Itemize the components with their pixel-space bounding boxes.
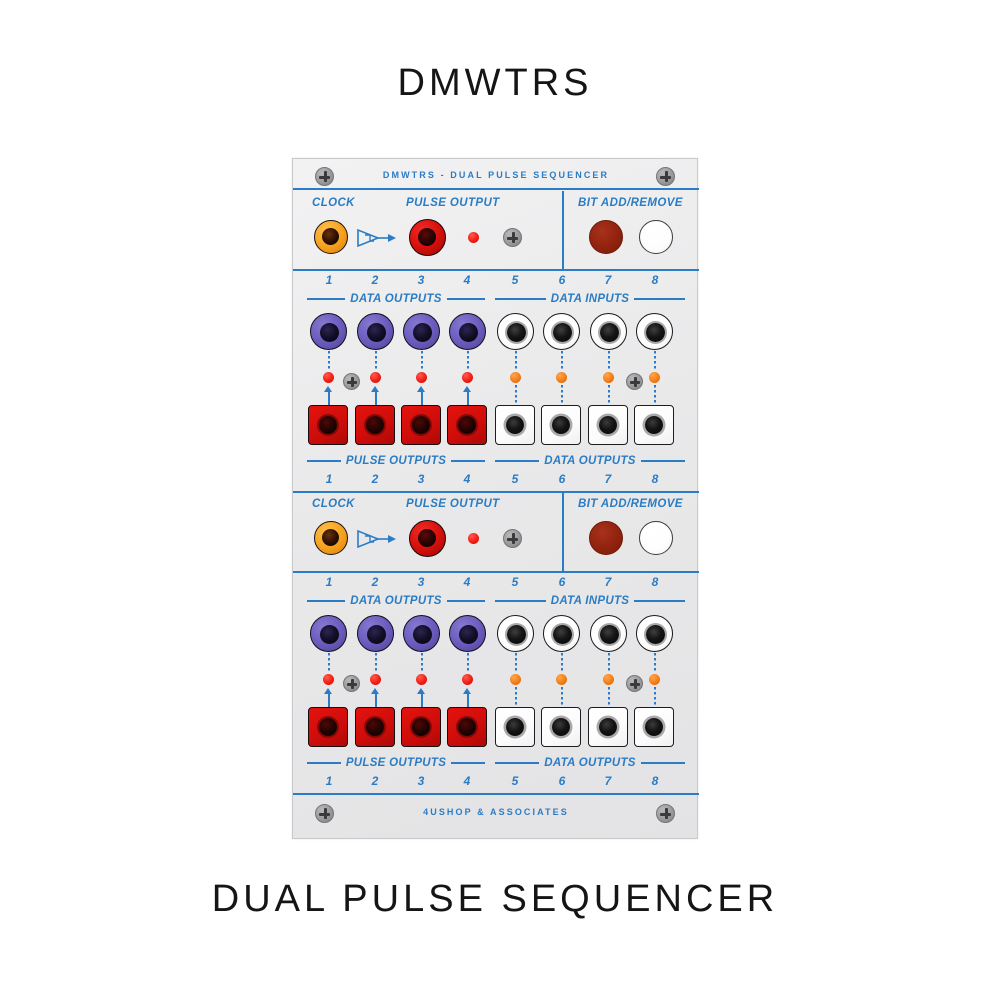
section-a-data-output-jack-2[interactable] [357, 313, 394, 350]
section-a-screw-right [626, 373, 643, 390]
section-a-bottom-number-1: 1 [319, 472, 339, 486]
section-a-led-8 [649, 372, 660, 383]
divider-b-control [293, 571, 699, 573]
rule-right [634, 600, 685, 602]
section-a-top-number-7: 7 [598, 273, 618, 287]
rule-right [447, 298, 485, 300]
section-b-top-number-7: 7 [598, 575, 618, 589]
section-a-data-output-square-8[interactable] [634, 405, 674, 445]
rule-right [641, 762, 685, 764]
section-b-bit-add-remove-label: BIT ADD/REMOVE [578, 498, 683, 510]
screw-bottom-right [656, 804, 675, 823]
section-b-data-input-jack-7[interactable] [590, 615, 627, 652]
arrowline-b-1 [328, 693, 330, 707]
section-b-top-number-6: 6 [552, 575, 572, 589]
rule-left [307, 762, 341, 764]
section-a-led-4 [462, 372, 473, 383]
section-a-screw-left [343, 373, 360, 390]
rule-left [495, 460, 539, 462]
section-a-data-output-jack-4[interactable] [449, 313, 486, 350]
section-b-bottom-number-3: 3 [411, 774, 431, 788]
section-a-data-input-jack-7[interactable] [590, 313, 627, 350]
dotline-b-2 [375, 653, 377, 673]
section-a-bit-add-button[interactable] [589, 220, 623, 254]
section-b-bottom-number-4: 4 [457, 774, 477, 788]
arrowline-a-2 [375, 391, 377, 405]
section-a-top-number-1: 1 [319, 273, 339, 287]
divider-footer [293, 793, 699, 795]
section-b-buffer-amp-icon [356, 528, 396, 550]
section-a-buffer-amp-icon [356, 227, 396, 249]
rule-right [447, 600, 485, 602]
section-a-bottom-number-3: 3 [411, 472, 431, 486]
section-b-data-output-square-7[interactable] [588, 707, 628, 747]
section-a-led-7 [603, 372, 614, 383]
section-b-data-input-jack-6[interactable] [543, 615, 580, 652]
section-a-pulse-output-square-2[interactable] [355, 405, 395, 445]
section-b-top-number-4: 4 [457, 575, 477, 589]
section-b-pulse-outputs-group: PULSE OUTPUTS [307, 756, 485, 770]
section-a-led-3 [416, 372, 427, 383]
dotline-b-lower-7 [608, 687, 610, 707]
section-a-screw-middle [503, 228, 522, 247]
arrowhead-a-4 [463, 386, 471, 392]
section-b-pulse-output-square-1[interactable] [308, 707, 348, 747]
screw-bottom-left [315, 804, 334, 823]
section-b-screw-right [626, 675, 643, 692]
section-b-bottom-number-1: 1 [319, 774, 339, 788]
section-a-pulse-output-square-4[interactable] [447, 405, 487, 445]
section-a-bit-add-remove-label: BIT ADD/REMOVE [578, 197, 683, 209]
section-b-top-number-5: 5 [505, 575, 525, 589]
section-a-bottom-number-4: 4 [457, 472, 477, 486]
section-b-pulse-output-jack[interactable] [409, 520, 446, 557]
dotline-b-1 [328, 653, 330, 673]
section-b-bottom-number-7: 7 [598, 774, 618, 788]
section-b-bottom-number-8: 8 [645, 774, 665, 788]
section-b-top-number-2: 2 [365, 575, 385, 589]
label-text: DATA OUTPUTS [544, 455, 636, 467]
section-a-top-number-5: 5 [505, 273, 525, 287]
section-a-clock-jack[interactable] [314, 220, 348, 254]
section-b-led-2 [370, 674, 381, 685]
arrowhead-b-2 [371, 688, 379, 694]
dotline-a-lower-8 [654, 385, 656, 405]
section-b-top-number-3: 3 [411, 575, 431, 589]
dotline-a-1 [328, 351, 330, 371]
section-a-bottom-number-6: 6 [552, 472, 572, 486]
screw-top-right [656, 167, 675, 186]
divider-a-control [293, 269, 699, 271]
section-a-clock-label: CLOCK [312, 197, 355, 209]
label-text: DATA INPUTS [551, 595, 629, 607]
section-b-pulse-output-label: PULSE OUTPUT [406, 498, 500, 510]
dotline-a-lower-7 [608, 385, 610, 405]
section-b-data-output-square-5[interactable] [495, 707, 535, 747]
label-text: DATA OUTPUTS [350, 293, 442, 305]
section-b-clock-label: CLOCK [312, 498, 355, 510]
dotline-a-5 [515, 351, 517, 371]
section-a-data-input-jack-5[interactable] [497, 313, 534, 350]
section-b-data-output-jack-4[interactable] [449, 615, 486, 652]
section-b-data-input-jack-5[interactable] [497, 615, 534, 652]
dotline-b-4 [467, 653, 469, 673]
section-b-data-outputs-bottom-group: DATA OUTPUTS [495, 756, 685, 770]
dotline-a-3 [421, 351, 423, 371]
section-a-led-2 [370, 372, 381, 383]
dotline-b-5 [515, 653, 517, 673]
rule-left [495, 762, 539, 764]
label-text: PULSE OUTPUTS [346, 455, 446, 467]
arrowline-b-4 [467, 693, 469, 707]
section-b-bottom-number-5: 5 [505, 774, 525, 788]
arrowhead-a-2 [371, 386, 379, 392]
section-a-bottom-number-2: 2 [365, 472, 385, 486]
panel-header-title: DMWTRS - DUAL PULSE SEQUENCER [293, 170, 699, 180]
dotline-b-lower-6 [561, 687, 563, 707]
eurorack-module-panel: DMWTRS - DUAL PULSE SEQUENCER CLOCK PULS… [292, 158, 698, 839]
dotline-a-lower-5 [515, 385, 517, 405]
divider-header [293, 188, 699, 190]
section-b-led-6 [556, 674, 567, 685]
rule-left [495, 298, 546, 300]
rule-left [307, 600, 345, 602]
brand-caption: DMWTRS [0, 62, 990, 105]
section-b-bit-add-button[interactable] [589, 521, 623, 555]
section-a-data-output-square-5[interactable] [495, 405, 535, 445]
rule-right [634, 298, 685, 300]
dotline-a-8 [654, 351, 656, 371]
section-a-bit-remove-button[interactable] [639, 220, 673, 254]
dotline-b-lower-5 [515, 687, 517, 707]
section-a-data-output-jack-3[interactable] [403, 313, 440, 350]
dotline-b-6 [561, 653, 563, 673]
section-a-top-number-3: 3 [411, 273, 431, 287]
product-caption: DUAL PULSE SEQUENCER [0, 878, 990, 921]
label-text: DATA OUTPUTS [544, 757, 636, 769]
section-a-top-number-8: 8 [645, 273, 665, 287]
section-b-clock-jack[interactable] [314, 521, 348, 555]
arrowhead-b-1 [324, 688, 332, 694]
dotline-b-3 [421, 653, 423, 673]
label-text: DATA OUTPUTS [350, 595, 442, 607]
section-a-led-6 [556, 372, 567, 383]
section-a-bottom-number-7: 7 [598, 472, 618, 486]
dotline-a-4 [467, 351, 469, 371]
arrowhead-a-3 [417, 386, 425, 392]
section-b-led-8 [649, 674, 660, 685]
dotline-b-8 [654, 653, 656, 673]
label-text: DATA INPUTS [551, 293, 629, 305]
section-b-data-inputs-group: DATA INPUTS [495, 594, 685, 608]
arrowline-a-3 [421, 391, 423, 405]
rule-left [307, 460, 341, 462]
section-a-top-number-4: 4 [457, 273, 477, 287]
section-b-top-number-8: 8 [645, 575, 665, 589]
section-b-bottom-number-6: 6 [552, 774, 572, 788]
section-a-data-input-jack-8[interactable] [636, 313, 673, 350]
section-b-data-output-jack-2[interactable] [357, 615, 394, 652]
section-b-bit-remove-button[interactable] [639, 521, 673, 555]
section-a-vertical-divider [562, 191, 564, 269]
section-a-bottom-number-8: 8 [645, 472, 665, 486]
section-a-data-inputs-group: DATA INPUTS [495, 292, 685, 306]
section-b-pulse-output-square-4[interactable] [447, 707, 487, 747]
arrowhead-a-1 [324, 386, 332, 392]
section-a-top-number-6: 6 [552, 273, 572, 287]
divider-sections [293, 491, 699, 493]
dotline-b-7 [608, 653, 610, 673]
section-b-data-outputs-group: DATA OUTPUTS [307, 594, 485, 608]
section-a-data-output-jack-1[interactable] [310, 313, 347, 350]
rule-right [451, 762, 485, 764]
arrowhead-b-4 [463, 688, 471, 694]
section-a-pulse-output-jack[interactable] [409, 219, 446, 256]
section-b-data-input-jack-8[interactable] [636, 615, 673, 652]
section-a-pulse-output-square-1[interactable] [308, 405, 348, 445]
section-b-pulse-output-square-3[interactable] [401, 707, 441, 747]
section-b-data-output-square-8[interactable] [634, 707, 674, 747]
dotline-b-lower-8 [654, 687, 656, 707]
rule-left [307, 298, 345, 300]
section-b-data-output-jack-3[interactable] [403, 615, 440, 652]
section-b-vertical-divider [562, 493, 564, 571]
section-a-data-outputs-bottom-group: DATA OUTPUTS [495, 454, 685, 468]
section-a-bottom-number-5: 5 [505, 472, 525, 486]
section-a-pulse-output-square-3[interactable] [401, 405, 441, 445]
dotline-a-2 [375, 351, 377, 371]
section-a-data-input-jack-6[interactable] [543, 313, 580, 350]
section-b-led-5 [510, 674, 521, 685]
section-a-pulse-led [468, 232, 479, 243]
rule-right [451, 460, 485, 462]
dotline-a-6 [561, 351, 563, 371]
rule-left [495, 600, 546, 602]
section-a-led-5 [510, 372, 521, 383]
section-b-pulse-led [468, 533, 479, 544]
dotline-a-lower-6 [561, 385, 563, 405]
section-b-led-7 [603, 674, 614, 685]
section-a-top-number-2: 2 [365, 273, 385, 287]
section-a-pulse-output-label: PULSE OUTPUT [406, 197, 500, 209]
arrowline-b-2 [375, 693, 377, 707]
dotline-a-7 [608, 351, 610, 371]
panel-footer-text: 4USHOP & ASSOCIATES [293, 807, 699, 817]
section-a-data-outputs-group: DATA OUTPUTS [307, 292, 485, 306]
arrowhead-b-3 [417, 688, 425, 694]
section-b-led-1 [323, 674, 334, 685]
arrowline-a-4 [467, 391, 469, 405]
section-a-pulse-outputs-group: PULSE OUTPUTS [307, 454, 485, 468]
rule-right [641, 460, 685, 462]
screw-top-left [315, 167, 334, 186]
section-a-led-1 [323, 372, 334, 383]
arrowline-b-3 [421, 693, 423, 707]
section-b-screw-left [343, 675, 360, 692]
section-a-data-output-square-7[interactable] [588, 405, 628, 445]
section-b-led-3 [416, 674, 427, 685]
arrowline-a-1 [328, 391, 330, 405]
section-b-top-number-1: 1 [319, 575, 339, 589]
section-b-pulse-output-square-2[interactable] [355, 707, 395, 747]
section-b-screw-middle [503, 529, 522, 548]
section-b-data-output-square-6[interactable] [541, 707, 581, 747]
section-b-led-4 [462, 674, 473, 685]
label-text: PULSE OUTPUTS [346, 757, 446, 769]
section-b-bottom-number-2: 2 [365, 774, 385, 788]
section-b-data-output-jack-1[interactable] [310, 615, 347, 652]
section-a-data-output-square-6[interactable] [541, 405, 581, 445]
